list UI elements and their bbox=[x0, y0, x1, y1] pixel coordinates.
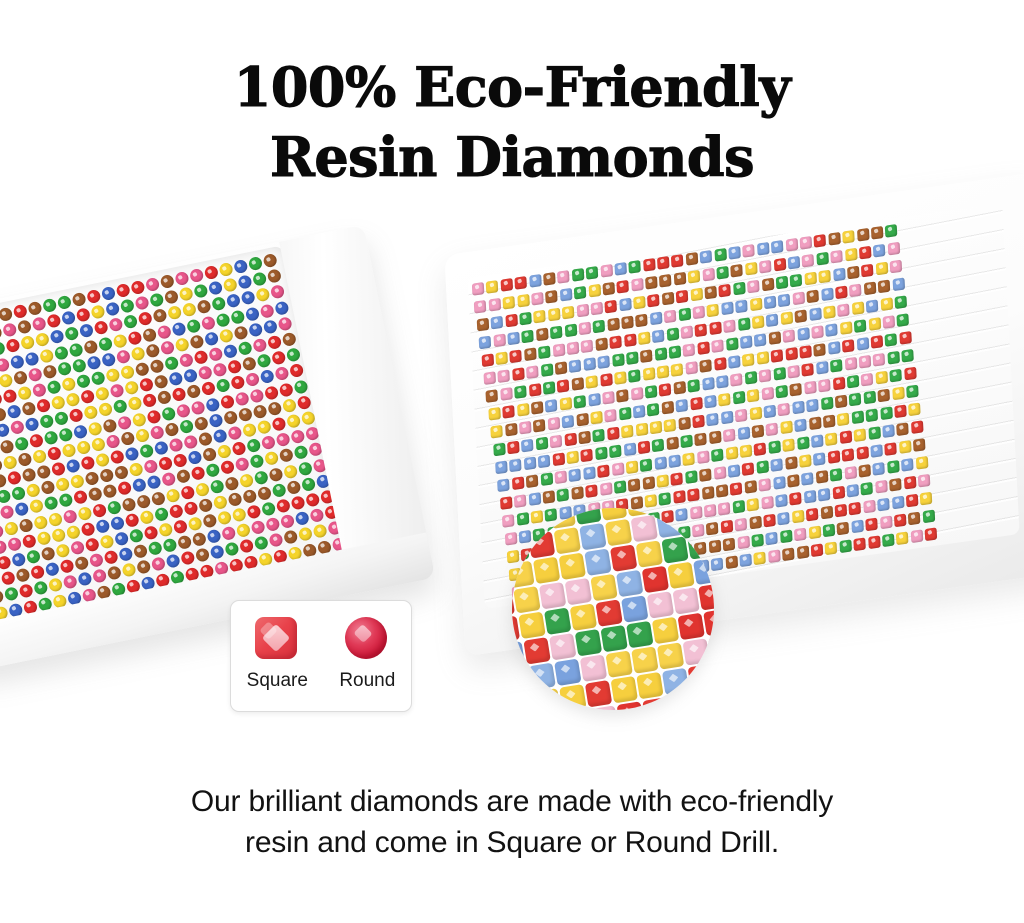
drill-bead bbox=[135, 428, 150, 443]
drill-bead bbox=[576, 304, 589, 318]
drill-bead bbox=[208, 347, 223, 362]
drill-bead bbox=[146, 409, 161, 424]
drill-bead bbox=[168, 371, 183, 386]
drill-bead bbox=[882, 424, 895, 438]
drill-bead bbox=[839, 430, 852, 444]
drill-bead bbox=[28, 367, 43, 382]
drill-bead bbox=[847, 266, 860, 280]
drill-bead bbox=[621, 425, 634, 439]
drill-bead bbox=[794, 528, 807, 542]
drill-bead bbox=[740, 335, 753, 349]
drill-bead bbox=[298, 527, 313, 542]
drill-bead bbox=[868, 317, 881, 331]
drill-bead bbox=[2, 388, 17, 403]
drill-bead bbox=[529, 383, 542, 397]
drill-bead bbox=[877, 498, 890, 512]
drill-bead bbox=[147, 541, 162, 556]
magnified-drill-bead bbox=[693, 558, 714, 585]
drill-bead bbox=[116, 283, 131, 298]
drill-bead bbox=[818, 488, 831, 502]
drill-bead bbox=[0, 439, 14, 454]
drill-bead bbox=[294, 511, 309, 526]
drill-bead bbox=[863, 391, 876, 405]
drill-bead bbox=[892, 496, 905, 510]
drill-bead bbox=[58, 427, 73, 442]
drill-bead bbox=[833, 268, 846, 282]
drill-bead bbox=[200, 315, 215, 330]
drill-bead bbox=[246, 504, 261, 519]
drill-bead bbox=[892, 387, 905, 401]
drill-bead bbox=[759, 478, 772, 492]
drill-bead bbox=[730, 482, 743, 496]
drill-bead bbox=[154, 440, 169, 455]
magnified-drill-bead bbox=[703, 609, 714, 636]
drill-bead bbox=[83, 339, 98, 354]
drill-bead bbox=[820, 506, 833, 520]
drill-bead bbox=[825, 541, 838, 555]
drill-bead bbox=[674, 272, 687, 286]
drill-bead bbox=[619, 407, 632, 421]
drill-bead bbox=[571, 377, 584, 391]
drill-bead bbox=[183, 368, 198, 383]
drill-bead bbox=[198, 431, 213, 446]
drill-bead bbox=[906, 494, 919, 508]
drill-bead bbox=[687, 488, 700, 502]
drill-bead bbox=[868, 426, 881, 440]
drill-bead bbox=[183, 434, 198, 449]
drill-bead bbox=[887, 460, 900, 474]
drill-bead bbox=[806, 508, 819, 522]
drill-bead bbox=[804, 381, 817, 395]
drill-bead bbox=[775, 494, 788, 508]
drill-bead bbox=[702, 486, 715, 500]
drill-bead bbox=[168, 437, 183, 452]
drill-bead bbox=[235, 457, 250, 472]
magnified-drill-bead bbox=[513, 586, 540, 613]
drill-bead bbox=[776, 276, 789, 290]
drill-bead bbox=[908, 512, 921, 526]
drill-bead bbox=[0, 555, 12, 570]
drill-bead bbox=[609, 335, 622, 349]
drill-bead bbox=[223, 344, 238, 359]
drill-bead bbox=[785, 238, 798, 252]
magnified-drill-bead bbox=[554, 659, 581, 686]
drill-bead bbox=[216, 444, 231, 459]
drill-bead bbox=[899, 440, 912, 454]
drill-bead bbox=[785, 456, 798, 470]
drill-bead bbox=[108, 317, 123, 332]
drill-bead bbox=[31, 316, 46, 331]
drill-bead bbox=[158, 522, 173, 537]
drill-bead bbox=[910, 529, 923, 543]
drill-bead bbox=[0, 473, 7, 488]
drill-bead bbox=[269, 533, 284, 548]
drill-bead bbox=[528, 492, 541, 506]
drill-bead bbox=[493, 443, 506, 457]
drill-bead bbox=[865, 518, 878, 532]
drill-bead bbox=[686, 252, 699, 266]
drill-bead bbox=[7, 536, 22, 551]
drill-bead bbox=[94, 386, 109, 401]
drill-bead bbox=[583, 466, 596, 480]
drill-bead bbox=[264, 385, 279, 400]
drill-bead bbox=[730, 373, 743, 387]
magnified-drill-bead bbox=[512, 535, 530, 562]
drill-bead bbox=[764, 296, 777, 310]
drill-bead bbox=[733, 282, 746, 296]
drill-bead bbox=[131, 346, 146, 361]
drill-bead bbox=[140, 509, 155, 524]
drill-bead bbox=[241, 290, 256, 305]
drill-bead bbox=[48, 512, 63, 527]
drill-bead bbox=[878, 389, 891, 403]
drill-bead bbox=[205, 397, 220, 412]
drill-bead bbox=[821, 397, 834, 411]
drill-bead bbox=[723, 428, 736, 442]
drill-bead bbox=[237, 341, 252, 356]
drill-bead bbox=[887, 351, 900, 365]
magnified-drill-bead bbox=[533, 557, 560, 584]
drill-bead bbox=[136, 494, 151, 509]
drill-bead bbox=[40, 480, 55, 495]
drill-bead bbox=[828, 450, 841, 464]
drill-bead bbox=[744, 480, 757, 494]
drill-bead bbox=[0, 341, 6, 356]
drill-bead bbox=[225, 542, 240, 557]
drill-bead bbox=[72, 358, 87, 373]
drill-bead bbox=[91, 371, 106, 386]
drill-bead bbox=[832, 377, 845, 391]
drill-bead bbox=[65, 458, 80, 473]
drill-bead bbox=[131, 412, 146, 427]
drill-bead bbox=[870, 444, 883, 458]
drill-bead bbox=[640, 458, 653, 472]
drill-bead bbox=[635, 423, 648, 437]
drill-bead bbox=[716, 484, 729, 498]
drill-bead bbox=[0, 373, 14, 388]
drill-bead bbox=[0, 407, 7, 422]
drill-bead bbox=[151, 557, 166, 572]
drill-bead bbox=[246, 438, 261, 453]
drill-bead bbox=[50, 329, 65, 344]
drill-bead bbox=[198, 497, 213, 512]
drill-bead bbox=[44, 496, 59, 511]
drill-bead bbox=[271, 416, 286, 431]
drill-bead bbox=[25, 417, 40, 432]
drill-bead bbox=[0, 539, 8, 554]
drill-bead bbox=[668, 454, 681, 468]
drill-bead bbox=[638, 441, 651, 455]
drill-bead bbox=[276, 498, 291, 513]
drill-bead bbox=[20, 335, 35, 350]
drill-bead bbox=[110, 515, 125, 530]
drill-bead bbox=[36, 464, 51, 479]
drill-bead bbox=[167, 305, 182, 320]
drill-bead bbox=[24, 351, 39, 366]
drill-bead bbox=[515, 276, 528, 290]
drill-bead bbox=[749, 407, 762, 421]
drill-bead bbox=[600, 264, 613, 278]
drill-bead bbox=[512, 367, 525, 381]
drill-bead bbox=[522, 330, 535, 344]
drill-bead bbox=[901, 458, 914, 472]
drill-bead bbox=[25, 483, 40, 498]
drill-bead bbox=[671, 254, 684, 268]
drill-bead bbox=[271, 350, 286, 365]
drill-bead bbox=[586, 375, 599, 389]
drill-bead bbox=[215, 312, 230, 327]
drill-bead bbox=[875, 371, 888, 385]
magnified-drill-bead bbox=[512, 667, 530, 694]
drill-bead bbox=[695, 323, 708, 337]
drill-bead bbox=[545, 290, 558, 304]
drill-bead bbox=[149, 359, 164, 374]
drill-bead bbox=[669, 345, 682, 359]
drill-bead bbox=[283, 464, 298, 479]
drill-bead bbox=[802, 254, 815, 268]
drill-bead bbox=[265, 517, 280, 532]
drill-bead bbox=[925, 527, 938, 541]
drill-bead bbox=[688, 270, 701, 284]
drill-bead bbox=[80, 455, 95, 470]
drill-bead bbox=[769, 331, 782, 345]
drill-bead bbox=[11, 486, 26, 501]
magnified-drill-bead bbox=[657, 642, 684, 669]
drill-bead bbox=[474, 300, 487, 314]
magnified-drill-bead bbox=[693, 689, 714, 710]
drill-bead bbox=[500, 278, 513, 292]
drill-bead bbox=[681, 325, 694, 339]
drill-bead bbox=[837, 303, 850, 317]
drill-bead bbox=[142, 393, 157, 408]
drill-bead bbox=[142, 327, 157, 342]
magnified-drill-bead bbox=[585, 680, 612, 707]
drill-bead bbox=[846, 484, 859, 498]
drill-bead bbox=[564, 324, 577, 338]
drill-bead bbox=[752, 315, 765, 329]
magnified-drill-bead bbox=[549, 633, 576, 660]
drill-bead bbox=[787, 474, 800, 488]
drill-bead bbox=[193, 284, 208, 299]
drill-bead bbox=[814, 234, 827, 248]
drill-bead bbox=[780, 420, 793, 434]
drill-bead bbox=[180, 551, 195, 566]
drill-bead bbox=[795, 309, 808, 323]
drill-bead bbox=[227, 359, 242, 374]
drill-bead bbox=[623, 443, 636, 457]
magnified-drill-bead bbox=[652, 617, 679, 644]
drill-bead bbox=[790, 383, 803, 397]
drill-bead bbox=[702, 268, 715, 282]
drill-bead bbox=[17, 386, 32, 401]
drill-bead bbox=[643, 258, 656, 272]
drill-bead bbox=[792, 292, 805, 306]
round-gem-icon bbox=[345, 617, 387, 659]
drill-bead bbox=[707, 413, 720, 427]
drill-bead bbox=[204, 265, 219, 280]
drill-bead bbox=[268, 467, 283, 482]
drill-bead bbox=[716, 375, 729, 389]
drill-bead bbox=[105, 368, 120, 383]
drill-bead bbox=[595, 447, 608, 461]
drill-bead bbox=[239, 473, 254, 488]
drill-bead bbox=[566, 451, 579, 465]
drill-bead bbox=[189, 268, 204, 283]
drill-bead bbox=[105, 302, 120, 317]
drill-bead bbox=[257, 419, 272, 434]
drill-bead bbox=[678, 417, 691, 431]
drill-bead bbox=[823, 414, 836, 428]
drill-bead bbox=[837, 522, 850, 536]
drill-bead bbox=[662, 292, 675, 306]
drill-bead bbox=[534, 310, 547, 324]
magnified-drill-bead bbox=[518, 612, 545, 639]
drill-bead bbox=[201, 381, 216, 396]
drill-bead bbox=[106, 500, 121, 515]
drill-bead bbox=[69, 408, 84, 423]
drill-bead bbox=[217, 510, 232, 525]
drill-bead bbox=[571, 486, 584, 500]
drill-bead bbox=[657, 256, 670, 270]
drill-bead bbox=[161, 472, 176, 487]
drill-bead bbox=[514, 494, 527, 508]
drill-bead bbox=[57, 361, 72, 376]
magnified-drill-bead bbox=[682, 508, 709, 534]
drill-bead bbox=[190, 400, 205, 415]
drill-bead bbox=[538, 345, 551, 359]
drill-bead bbox=[800, 236, 813, 250]
drill-bead bbox=[811, 434, 824, 448]
drill-bead bbox=[503, 296, 516, 310]
drill-bead bbox=[828, 341, 841, 355]
drill-bead bbox=[657, 365, 670, 379]
drill-bead bbox=[844, 466, 857, 480]
drill-bead bbox=[239, 539, 254, 554]
drill-bead bbox=[761, 496, 774, 510]
drill-bead bbox=[202, 513, 217, 528]
drill-bead bbox=[737, 426, 750, 440]
drill-bead bbox=[861, 264, 874, 278]
drill-bead bbox=[500, 387, 513, 401]
drill-bead bbox=[783, 329, 796, 343]
drill-bead bbox=[557, 270, 570, 284]
drill-bead bbox=[816, 470, 829, 484]
drill-bead bbox=[154, 506, 169, 521]
drill-bead bbox=[510, 349, 523, 363]
drill-bead bbox=[524, 457, 537, 471]
drill-bead bbox=[134, 296, 149, 311]
drill-bead bbox=[220, 394, 235, 409]
magnified-drill-bead bbox=[569, 603, 596, 630]
drill-bead bbox=[569, 468, 582, 482]
drill-bead bbox=[7, 470, 22, 485]
drill-bead bbox=[0, 571, 15, 586]
drill-bead bbox=[149, 293, 164, 308]
drill-bead bbox=[621, 316, 634, 330]
drill-bead bbox=[285, 347, 300, 362]
drill-bead bbox=[62, 509, 77, 524]
drill-bead bbox=[529, 274, 542, 288]
drill-bead bbox=[0, 489, 11, 504]
drill-bead bbox=[78, 572, 93, 587]
drill-bead bbox=[652, 439, 665, 453]
drill-bead bbox=[135, 362, 150, 377]
drill-bead bbox=[906, 385, 919, 399]
drill-bead bbox=[856, 446, 869, 460]
drill-bead bbox=[735, 409, 748, 423]
page-title: 100% Eco-Friendly Resin Diamonds bbox=[0, 52, 1024, 192]
drill-bead bbox=[237, 275, 252, 290]
drill-bead bbox=[697, 341, 710, 355]
drill-bead bbox=[83, 405, 98, 420]
drill-shape-legend[interactable]: Square Round bbox=[230, 600, 412, 712]
drill-bead bbox=[64, 326, 79, 341]
drill-bead bbox=[248, 256, 263, 271]
drill-bead bbox=[495, 351, 508, 365]
drill-bead bbox=[172, 453, 187, 468]
drill-bead bbox=[911, 420, 924, 434]
drill-bead bbox=[851, 410, 864, 424]
drill-bead bbox=[875, 480, 888, 494]
drill-bead bbox=[15, 568, 30, 583]
drill-bead bbox=[866, 408, 879, 422]
drill-bead bbox=[99, 534, 114, 549]
drill-bead bbox=[823, 524, 836, 538]
drill-bead bbox=[648, 294, 661, 308]
drill-bead bbox=[673, 490, 686, 504]
drill-bead bbox=[490, 425, 503, 439]
drill-bead bbox=[3, 521, 18, 536]
drill-bead bbox=[145, 277, 160, 292]
drill-bead bbox=[840, 321, 853, 335]
drill-bead bbox=[785, 347, 798, 361]
magnified-drill-bead bbox=[595, 599, 622, 626]
drill-bead bbox=[819, 270, 832, 284]
drill-bead bbox=[645, 494, 658, 508]
drill-bead bbox=[552, 453, 565, 467]
magnified-drill-bead bbox=[631, 646, 658, 673]
drill-bead bbox=[187, 516, 202, 531]
drill-bead bbox=[120, 431, 135, 446]
drill-bead bbox=[585, 484, 598, 498]
drill-bead bbox=[799, 345, 812, 359]
magnified-drill-bead bbox=[667, 562, 694, 589]
drill-bead bbox=[761, 387, 774, 401]
drill-bead bbox=[256, 353, 271, 368]
square-gem-icon bbox=[255, 617, 297, 659]
drill-bead bbox=[119, 299, 134, 314]
drill-bead bbox=[607, 427, 620, 441]
drill-bead bbox=[245, 372, 260, 387]
drill-bead bbox=[789, 492, 802, 506]
drill-bead bbox=[766, 422, 779, 436]
magnified-drill-bead bbox=[605, 519, 632, 546]
drill-bead bbox=[59, 559, 74, 574]
drill-bead bbox=[176, 469, 191, 484]
drill-bead bbox=[260, 369, 275, 384]
drill-bead bbox=[477, 318, 490, 332]
drill-bead bbox=[688, 379, 701, 393]
drill-bead bbox=[842, 448, 855, 462]
drill-bead bbox=[249, 388, 264, 403]
drill-bead bbox=[636, 314, 649, 328]
drill-bead bbox=[607, 318, 620, 332]
drill-bead bbox=[751, 534, 764, 548]
headline-line-1: 100% Eco-Friendly bbox=[234, 55, 790, 119]
drill-bead bbox=[519, 312, 532, 326]
drill-bead bbox=[588, 284, 601, 298]
drill-bead bbox=[743, 244, 756, 258]
